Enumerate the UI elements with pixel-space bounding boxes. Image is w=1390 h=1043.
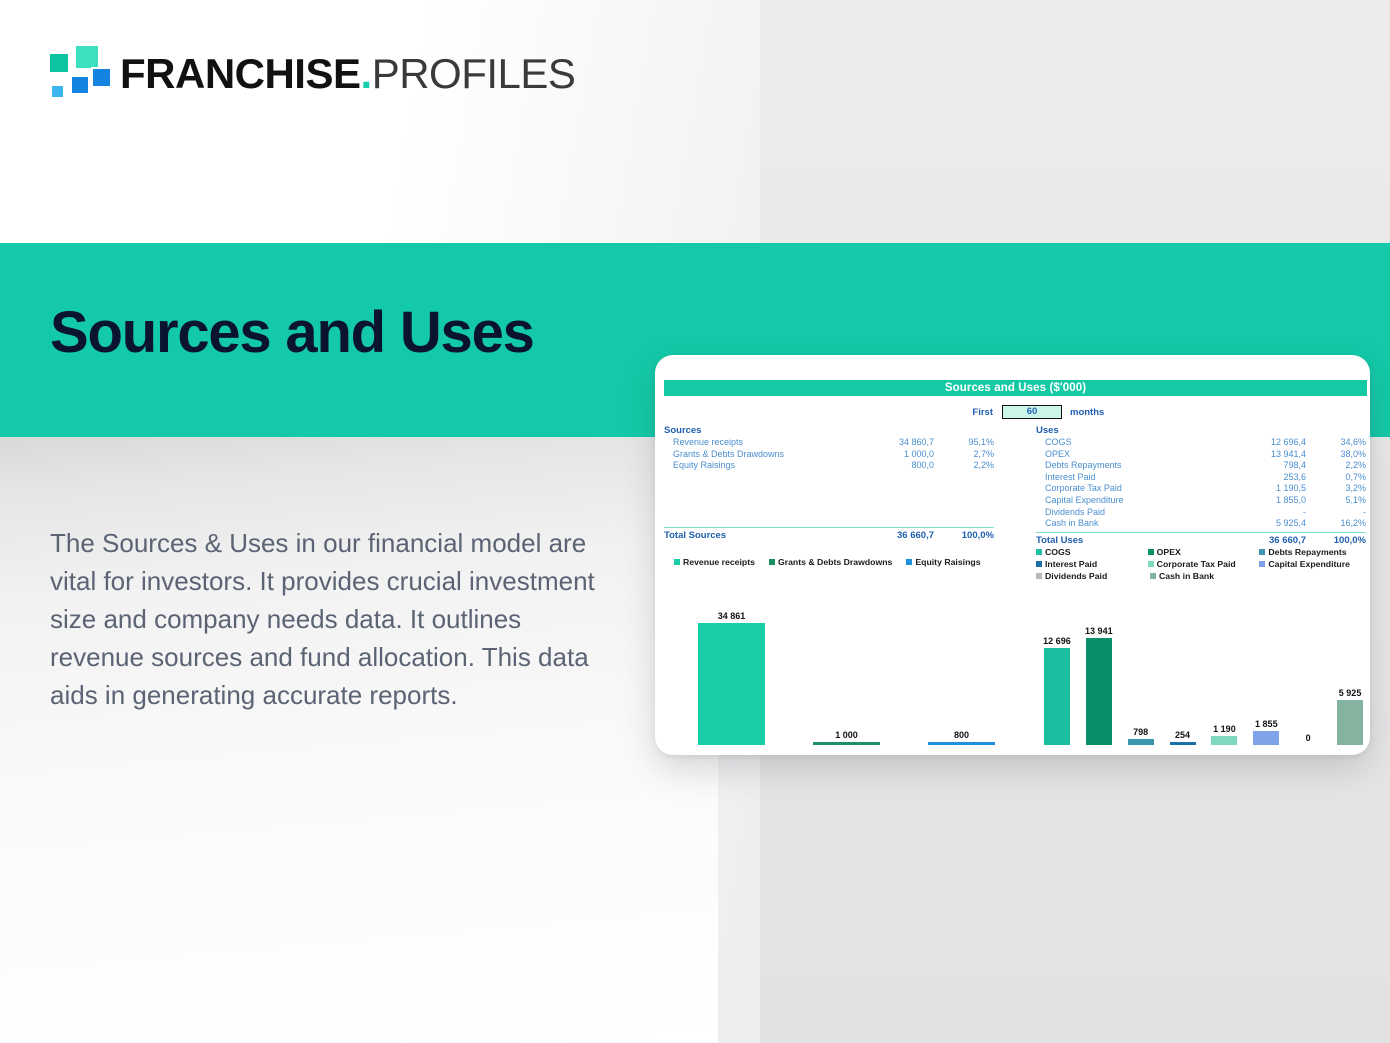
uses-heading: Uses: [1036, 424, 1366, 437]
spreadsheet-card: Sources and Uses ($'000) First 60 months…: [655, 355, 1370, 755]
sources-bar: [928, 742, 995, 745]
legend-label: Cash in Bank: [1159, 571, 1214, 581]
uses-row-pct: 3,2%: [1308, 483, 1366, 495]
sources-bar-slot[interactable]: 1 000: [789, 595, 904, 745]
sources-bar: [698, 623, 765, 745]
uses-bar-slot[interactable]: 1 855: [1245, 595, 1287, 745]
sources-row-value: 1 000,0: [804, 449, 934, 461]
uses-legend: COGSOPEXDebts RepaymentsInterest PaidCor…: [1036, 546, 1370, 582]
months-input[interactable]: 60: [1002, 405, 1062, 419]
sources-rows: Revenue receipts34 860,795,1%Grants & De…: [664, 437, 994, 472]
months-control-row: First 60 months: [664, 405, 1367, 420]
uses-legend-item[interactable]: Dividends Paid: [1036, 570, 1150, 582]
table-row: Revenue receipts34 860,795,1%: [664, 437, 994, 449]
uses-row-label: Cash in Bank: [1045, 518, 1099, 530]
sources-bar: [813, 742, 880, 745]
uses-bar-value-label: 5 925: [1339, 688, 1362, 698]
wordmark-dot: .: [361, 50, 372, 97]
uses-row-label: Corporate Tax Paid: [1045, 483, 1122, 495]
uses-row-value: 13 941,4: [1176, 449, 1306, 461]
uses-row-pct: 16,2%: [1308, 518, 1366, 530]
legend-swatch-icon: [1259, 561, 1265, 567]
uses-legend-item[interactable]: OPEX: [1148, 546, 1260, 558]
sources-row-pct: 2,7%: [936, 449, 994, 461]
uses-row-value: 253,6: [1176, 472, 1306, 484]
table-row: Grants & Debts Drawdowns1 000,02,7%: [664, 449, 994, 461]
uses-row-label: Debts Repayments: [1045, 460, 1122, 472]
uses-legend-item[interactable]: Interest Paid: [1036, 558, 1148, 570]
uses-bar: [1170, 742, 1196, 745]
uses-bar-value-label: 13 941: [1085, 626, 1113, 636]
uses-row-pct: 34,6%: [1308, 437, 1366, 449]
sources-bar-slot[interactable]: 800: [904, 595, 1019, 745]
uses-row-pct: 2,2%: [1308, 460, 1366, 472]
uses-bar: [1211, 736, 1237, 745]
sources-row-pct: 95,1%: [936, 437, 994, 449]
uses-table: Uses COGS12 696,434,6%OPEX13 941,438,0%D…: [1036, 424, 1366, 547]
table-row: Equity Raisings800,02,2%: [664, 460, 994, 472]
legend-label: Revenue receipts: [683, 557, 755, 567]
legend-swatch-icon: [906, 559, 912, 565]
uses-row-label: OPEX: [1045, 449, 1070, 461]
legend-row: Dividends PaidCash in Bank: [1036, 570, 1370, 582]
legend-row: Interest PaidCorporate Tax PaidCapital E…: [1036, 558, 1370, 570]
logo-square-1: [48, 52, 70, 74]
uses-row-label: Dividends Paid: [1045, 507, 1105, 519]
wordmark-light: PROFILES: [372, 50, 576, 97]
table-row: Dividends Paid--: [1036, 507, 1366, 519]
legend-label: OPEX: [1157, 547, 1181, 557]
sources-heading: Sources: [664, 424, 994, 437]
legend-swatch-icon: [1036, 573, 1042, 579]
sources-legend: Revenue receiptsGrants & Debts Drawdowns…: [674, 556, 1014, 568]
legend-swatch-icon: [674, 559, 680, 565]
uses-bar: [1337, 700, 1363, 745]
uses-bar-slot[interactable]: 0: [1287, 595, 1329, 745]
uses-row-pct: 0,7%: [1308, 472, 1366, 484]
legend-swatch-icon: [1036, 561, 1042, 567]
uses-bar-slot[interactable]: 798: [1120, 595, 1162, 745]
page-title: Sources and Uses: [50, 304, 534, 362]
sources-row-pct: 2,2%: [936, 460, 994, 472]
logo-square-5: [50, 84, 65, 99]
table-row: Corporate Tax Paid1 190,53,2%: [1036, 483, 1366, 495]
uses-bar-value-label: 1 855: [1255, 719, 1278, 729]
uses-bar-chart: 12 69613 9417982541 1901 85505 925: [1036, 595, 1370, 745]
sources-row-value: 34 860,7: [804, 437, 934, 449]
legend-label: Equity Raisings: [915, 557, 980, 567]
uses-bar-value-label: 12 696: [1043, 636, 1071, 646]
legend-label: COGS: [1045, 547, 1071, 557]
uses-row-pct: 38,0%: [1308, 449, 1366, 461]
sources-legend-item[interactable]: Grants & Debts Drawdowns: [769, 556, 892, 568]
legend-swatch-icon: [1148, 549, 1154, 555]
uses-row-label: Capital Expenditure: [1045, 495, 1124, 507]
uses-bar: [1253, 731, 1279, 745]
sources-row-label: Revenue receipts: [673, 437, 743, 449]
uses-bar-slot[interactable]: 12 696: [1036, 595, 1078, 745]
wordmark-bold: FRANCHISE: [120, 50, 361, 97]
uses-row-value: 12 696,4: [1176, 437, 1306, 449]
sources-bar-chart: 34 8611 000800: [674, 595, 1019, 745]
table-row: Cash in Bank5 925,416,2%: [1036, 518, 1366, 530]
uses-legend-item[interactable]: Debts Repayments: [1259, 546, 1370, 558]
sheet-title: Sources and Uses ($'000): [664, 380, 1367, 396]
sources-spacer: [664, 472, 994, 525]
sources-legend-item[interactable]: Equity Raisings: [906, 556, 980, 568]
legend-swatch-icon: [769, 559, 775, 565]
legend-swatch-icon: [1259, 549, 1265, 555]
uses-row-label: COGS: [1045, 437, 1072, 449]
uses-legend-item[interactable]: COGS: [1036, 546, 1148, 558]
legend-swatch-icon: [1150, 573, 1156, 579]
sources-bar-slot[interactable]: 34 861: [674, 595, 789, 745]
table-row: COGS12 696,434,6%: [1036, 437, 1366, 449]
sources-row-label: Equity Raisings: [673, 460, 735, 472]
uses-bar-slot[interactable]: 5 925: [1329, 595, 1370, 745]
sources-total-pct: 100,0%: [936, 529, 994, 543]
uses-row-pct: -: [1308, 507, 1366, 519]
uses-rows: COGS12 696,434,6%OPEX13 941,438,0%Debts …: [1036, 437, 1366, 530]
uses-legend-item[interactable]: Corporate Tax Paid: [1148, 558, 1260, 570]
sources-total-label: Total Sources: [664, 529, 726, 543]
uses-bar-value-label: 1 190: [1213, 724, 1236, 734]
uses-bar: [1086, 638, 1112, 745]
sources-total-row: Total Sources 36 660,7 100,0%: [664, 527, 994, 542]
uses-row-value: 5 925,4: [1176, 518, 1306, 530]
uses-row-value: 1 190,5: [1176, 483, 1306, 495]
table-row: OPEX13 941,438,0%: [1036, 449, 1366, 461]
legend-label: Capital Expenditure: [1268, 559, 1350, 569]
uses-total-row: Total Uses 36 660,7 100,0%: [1036, 532, 1366, 547]
uses-legend-item[interactable]: Cash in Bank: [1150, 570, 1264, 582]
table-row: Capital Expenditure1 855,05,1%: [1036, 495, 1366, 507]
sources-bar-value-label: 800: [954, 730, 969, 740]
legend-row: COGSOPEXDebts Repayments: [1036, 546, 1370, 558]
uses-bar-value-label: 0: [1306, 733, 1311, 743]
legend-label: Debts Repayments: [1268, 547, 1346, 557]
sources-row-label: Grants & Debts Drawdowns: [673, 449, 784, 461]
table-row: Interest Paid253,60,7%: [1036, 472, 1366, 484]
legend-label: Corporate Tax Paid: [1157, 559, 1236, 569]
sources-bar-value-label: 34 861: [718, 611, 746, 621]
legend-swatch-icon: [1148, 561, 1154, 567]
uses-row-label: Interest Paid: [1045, 472, 1096, 484]
uses-bar-value-label: 798: [1133, 727, 1148, 737]
sources-bars: 34 8611 000800: [674, 595, 1019, 745]
sources-total-value: 36 660,7: [804, 529, 934, 543]
logo-squares-icon: [48, 44, 106, 94]
brand-wordmark: FRANCHISE.PROFILES: [120, 43, 575, 105]
uses-bar: [1044, 648, 1070, 745]
legend-label: Dividends Paid: [1045, 571, 1107, 581]
sources-bar-value-label: 1 000: [835, 730, 858, 740]
sources-table: Sources Revenue receipts34 860,795,1%Gra…: [664, 424, 994, 542]
intro-paragraph: The Sources & Uses in our financial mode…: [50, 524, 615, 714]
brand-logo: FRANCHISE.PROFILES: [48, 44, 548, 106]
months-prefix-label: First: [953, 405, 993, 420]
uses-bar-slot[interactable]: 13 941: [1078, 595, 1120, 745]
uses-bars: 12 69613 9417982541 1901 85505 925: [1036, 595, 1370, 745]
uses-legend-item[interactable]: Capital Expenditure: [1259, 558, 1370, 570]
months-suffix-label: months: [1070, 405, 1104, 420]
legend-label: Interest Paid: [1045, 559, 1097, 569]
uses-row-pct: 5,1%: [1308, 495, 1366, 507]
sources-legend-item[interactable]: Revenue receipts: [674, 556, 755, 568]
uses-bar-slot[interactable]: 1 190: [1204, 595, 1246, 745]
table-row: Debts Repayments798,42,2%: [1036, 460, 1366, 472]
legend-swatch-icon: [1036, 549, 1042, 555]
uses-bar: [1128, 739, 1154, 745]
legend-label: Grants & Debts Drawdowns: [778, 557, 892, 567]
sources-row-value: 800,0: [804, 460, 934, 472]
uses-bar-value-label: 254: [1175, 730, 1190, 740]
uses-bar-slot[interactable]: 254: [1162, 595, 1204, 745]
uses-row-value: 798,4: [1176, 460, 1306, 472]
legend-row: Revenue receiptsGrants & Debts Drawdowns…: [674, 556, 1014, 568]
logo-square-3: [70, 75, 90, 95]
uses-row-value: -: [1176, 507, 1306, 519]
uses-row-value: 1 855,0: [1176, 495, 1306, 507]
logo-square-4: [91, 67, 112, 88]
